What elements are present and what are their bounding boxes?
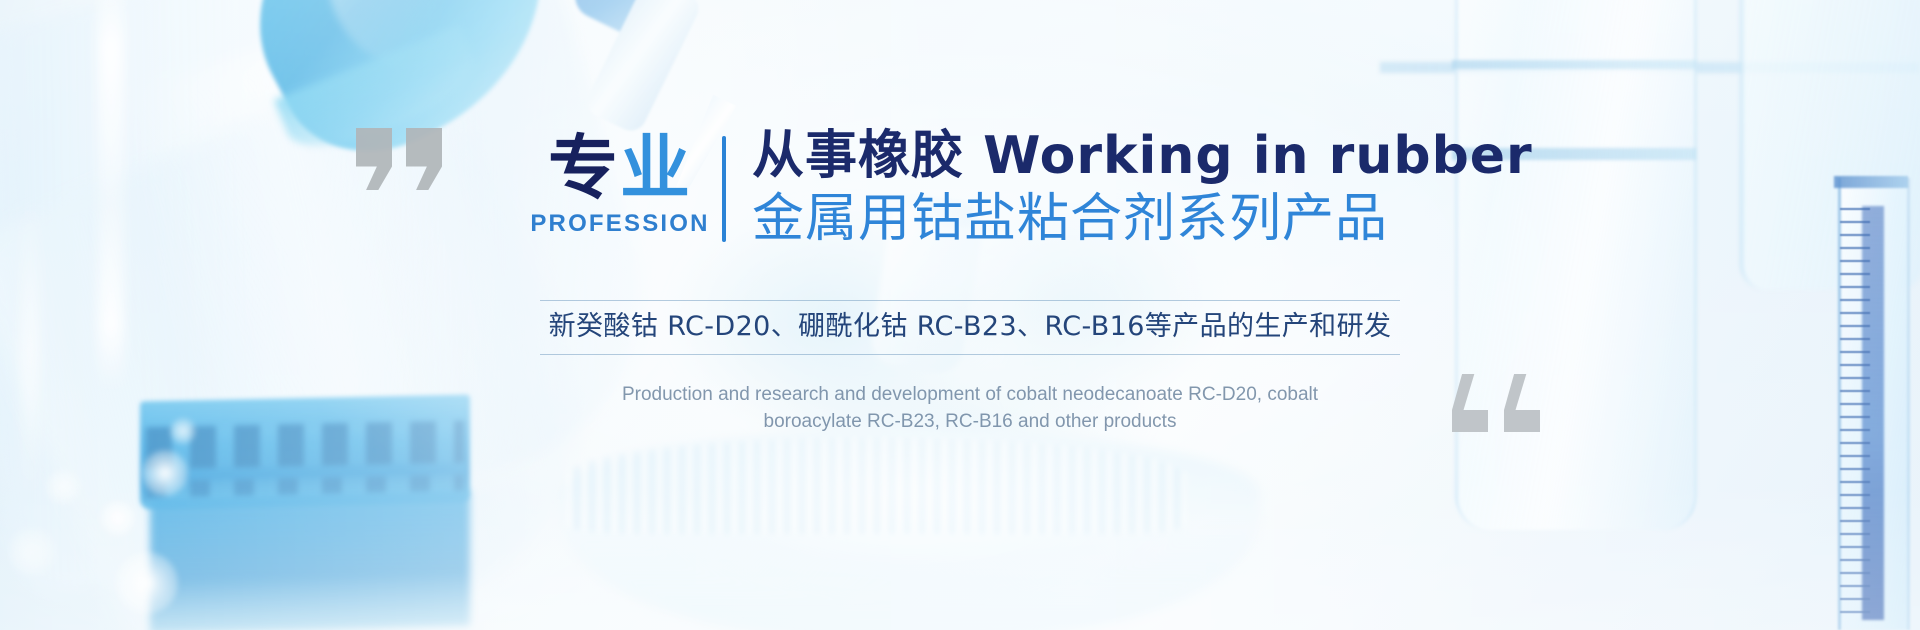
profession-logo: 专业 PROFESSION (540, 128, 700, 238)
vertical-divider (722, 136, 726, 242)
subtitle-rule-bottom (540, 354, 1400, 355)
headline-line-1: 从事橡胶 Working in rubber (752, 128, 1533, 184)
headline-titles: 从事橡胶 Working in rubber 金属用钴盐粘合剂系列产品 (752, 128, 1533, 248)
profession-logo-cn: 专业 (548, 132, 692, 204)
banner-content: 专业 PROFESSION 从事橡胶 Working in rubber 金属用… (0, 0, 1920, 630)
profession-logo-en: PROFESSION (530, 210, 709, 238)
subtitle-chinese: 新癸酸钴 RC-D20、硼酰化钴 RC-B23、RC-B16等产品的生产和研发 (540, 301, 1400, 354)
headline-row: 专业 PROFESSION 从事橡胶 Working in rubber 金属用… (540, 128, 1533, 248)
subtitle-english: Production and research and development … (620, 381, 1320, 435)
profession-logo-char-2: 业 (620, 127, 692, 209)
profession-logo-char-1: 专 (548, 127, 620, 209)
subtitle-block: 新癸酸钴 RC-D20、硼酰化钴 RC-B23、RC-B16等产品的生产和研发 … (540, 300, 1400, 435)
headline-line-2: 金属用钴盐粘合剂系列产品 (752, 190, 1533, 248)
hero-banner: 专业 PROFESSION 从事橡胶 Working in rubber 金属用… (0, 0, 1920, 630)
